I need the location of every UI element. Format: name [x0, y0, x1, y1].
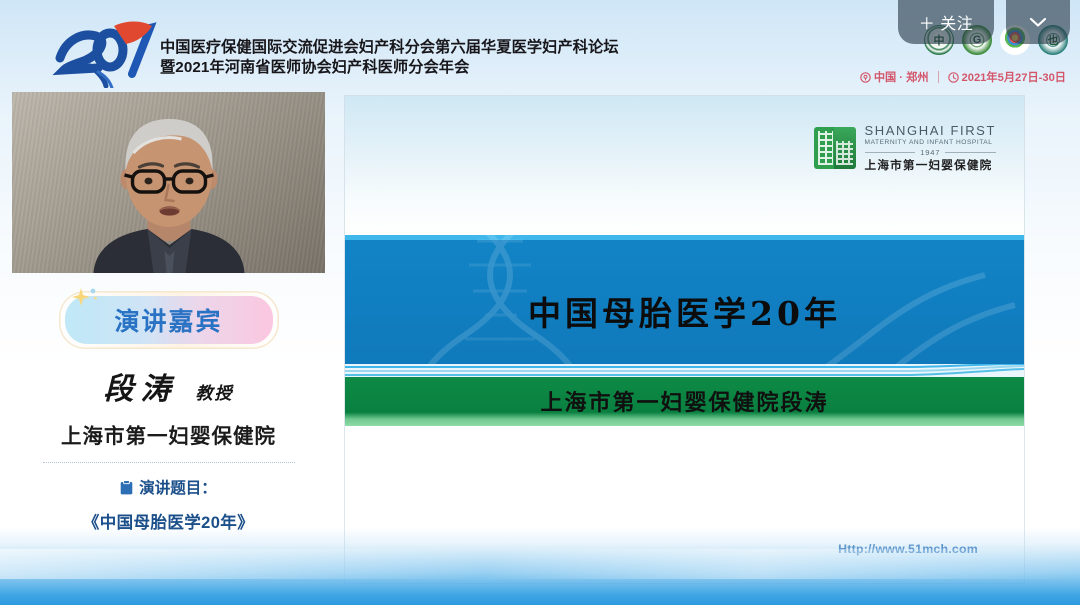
clock-icon: [948, 72, 959, 83]
conference-location-text: 中国 · 郑州: [874, 69, 929, 85]
talk-topic-title: 《中国母胎医学20年》: [0, 509, 337, 533]
rule-right: [945, 152, 996, 153]
conference-title-line1: 中国医疗保健国际交流促进会妇产科分会第六届华夏医学妇产科论坛: [160, 38, 700, 58]
sparkle-icon: [72, 286, 98, 310]
chevron-down-icon: [1028, 16, 1048, 28]
slide-main-title: 中国母胎医学20年: [345, 287, 1024, 335]
hospital-seal-icon: [814, 127, 856, 169]
hospital-name-en-line2: MATERNITY AND INFANT HOSPITAL: [865, 139, 996, 146]
slide-title-band: 中国母胎医学20年: [345, 235, 1024, 366]
presentation-slide[interactable]: SHANGHAI FIRST MATERNITY AND INFANT HOSP…: [345, 96, 1024, 583]
hospital-name-cn: 上海市第一妇婴保健院: [865, 160, 996, 173]
collapse-header-button[interactable]: [1006, 0, 1070, 44]
hospital-logo: SHANGHAI FIRST MATERNITY AND INFANT HOSP…: [814, 124, 996, 173]
clipboard-icon: [120, 480, 133, 495]
hospital-founded-year: 1947: [920, 148, 940, 157]
speaker-organization: 上海市第一妇婴保健院: [0, 419, 337, 449]
speaker-badge-text: 演讲嘉宾: [114, 302, 222, 338]
slide-website-url: Http://www.51mch.com: [838, 542, 978, 556]
follow-button[interactable]: ＋ 关注: [898, 0, 994, 44]
speaker-name-row: 段涛 教授: [0, 364, 337, 408]
conference-date: 2021年5月27日-30日: [948, 69, 1066, 85]
hospital-logo-text: SHANGHAI FIRST MATERNITY AND INFANT HOSP…: [865, 124, 996, 173]
speaker-info-card: 演讲嘉宾 段涛 教授 上海市第一妇婴保健院 演讲题目： 《中国母胎医学20年》: [0, 296, 337, 546]
wave-lines-icon: [345, 364, 1024, 378]
speaker-badge: 演讲嘉宾: [65, 296, 273, 344]
speaker-video-feed[interactable]: [12, 92, 325, 273]
speaker-rank: 教授: [196, 379, 234, 404]
slide-header-area: SHANGHAI FIRST MATERNITY AND INFANT HOSP…: [345, 96, 1024, 235]
hospital-name-en-line1: SHANGHAI FIRST: [865, 124, 996, 138]
live-stream-page: 中国医疗保健国际交流促进会妇产科分会第六届华夏医学妇产科论坛 暨2021年河南省…: [0, 0, 1080, 605]
slide-wave-separator: [345, 364, 1024, 378]
slide-subtitle-band: 上海市第一妇婴保健院段涛: [345, 377, 1024, 426]
conference-year-logo: [52, 16, 157, 88]
speaker-divider: [43, 462, 295, 463]
hospital-founded-year-row: 1947: [865, 148, 996, 157]
conference-header: 中国医疗保健国际交流促进会妇产科分会第六届华夏医学妇产科论坛 暨2021年河南省…: [0, 0, 1080, 92]
speaker-portrait: [81, 105, 256, 273]
location-pin-icon: [860, 72, 871, 83]
conference-title-line2: 暨2021年河南省医师协会妇产科医师分会年会: [160, 58, 700, 78]
conference-location: 中国 · 郑州: [860, 69, 929, 85]
conference-date-text: 2021年5月27日-30日: [962, 69, 1066, 85]
conference-meta: 中国 · 郑州 2021年5月27日-30日: [860, 69, 1066, 85]
talk-topic-label-row: 演讲题目：: [0, 476, 337, 498]
meta-separator: [938, 71, 939, 83]
speaker-name: 段涛: [104, 364, 178, 408]
rule-left: [865, 152, 916, 153]
slide-subtitle-text: 上海市第一妇婴保健院段涛: [345, 385, 1024, 417]
talk-topic-label: 演讲题目：: [139, 476, 217, 498]
conference-title-block: 中国医疗保健国际交流促进会妇产科分会第六届华夏医学妇产科论坛 暨2021年河南省…: [160, 38, 700, 79]
